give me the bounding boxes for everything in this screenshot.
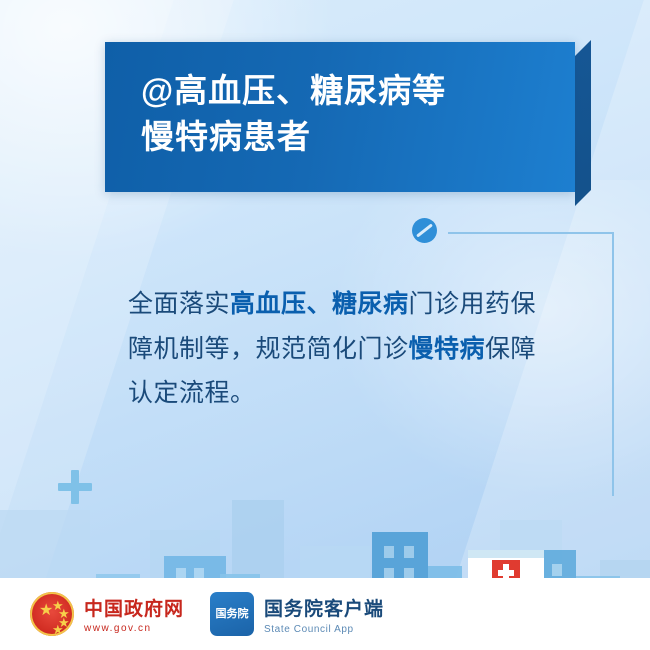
capsule-pill-icon <box>412 218 437 243</box>
banner-title: @高血压、糖尿病等 慢特病患者 <box>105 42 575 159</box>
medical-cross-icon <box>58 470 92 504</box>
gov-site-url: www.gov.cn <box>84 623 184 634</box>
state-council-app-icon: 国务院 <box>210 592 254 636</box>
poster-canvas: @高血压、糖尿病等 慢特病患者 全面落实高血压、糖尿病门诊用药保障机制等，规范简… <box>0 0 650 650</box>
national-emblem-icon: ★ ★ ★ ★ ★ <box>30 592 74 636</box>
body-paragraph: 全面落实高血压、糖尿病门诊用药保障机制等，规范简化门诊慢特病保障认定流程。 <box>128 282 558 416</box>
app-name: 国务院客户端 <box>264 594 384 621</box>
body-segment-0: 全面落实 <box>128 290 230 318</box>
body-segment-1: 高血压、糖尿病 <box>230 290 409 318</box>
footer-bar: ★ ★ ★ ★ ★ 中国政府网 www.gov.cn 国务院 国务院客户端 St… <box>0 578 650 650</box>
app-subtitle: State Council App <box>264 624 384 635</box>
body-segment-3: 慢特病 <box>409 335 486 363</box>
gov-site-text: 中国政府网 www.gov.cn <box>84 594 184 634</box>
banner-fold <box>575 40 591 206</box>
title-banner: @高血压、糖尿病等 慢特病患者 <box>105 42 575 192</box>
gov-site-name: 中国政府网 <box>84 594 184 621</box>
app-text: 国务院客户端 State Council App <box>264 594 384 635</box>
